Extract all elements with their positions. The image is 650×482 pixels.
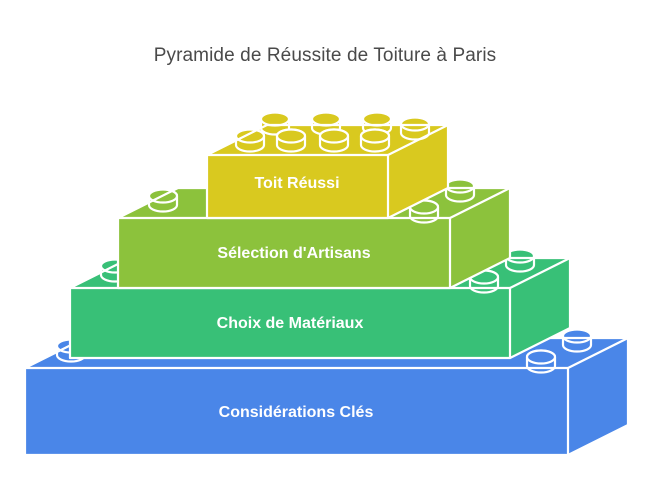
pyramid-infographic: Pyramide de Réussite de Toiture à Paris [0,0,650,482]
brick-top-label: Toit Réussi [254,175,339,192]
brick-top[interactable]: Toit Réussi [207,113,448,219]
pyramid-diagram: Considérations Clés Choix de Matériaux [0,0,650,482]
stud-icon [320,130,348,143]
stud-icon [563,330,591,343]
stud-icon [363,113,391,126]
stud-icon [361,130,389,143]
stud-icon [446,180,474,193]
stud-icon [261,113,289,126]
stud-icon [236,130,264,143]
stud-icon [527,351,555,364]
brick-base-label: Considérations Clés [219,404,374,421]
brick-upper-middle-label: Sélection d'Artisans [217,245,370,262]
brick-lower-middle-label: Choix de Matériaux [217,315,364,332]
stud-icon [312,113,340,126]
stud-icon [277,130,305,143]
